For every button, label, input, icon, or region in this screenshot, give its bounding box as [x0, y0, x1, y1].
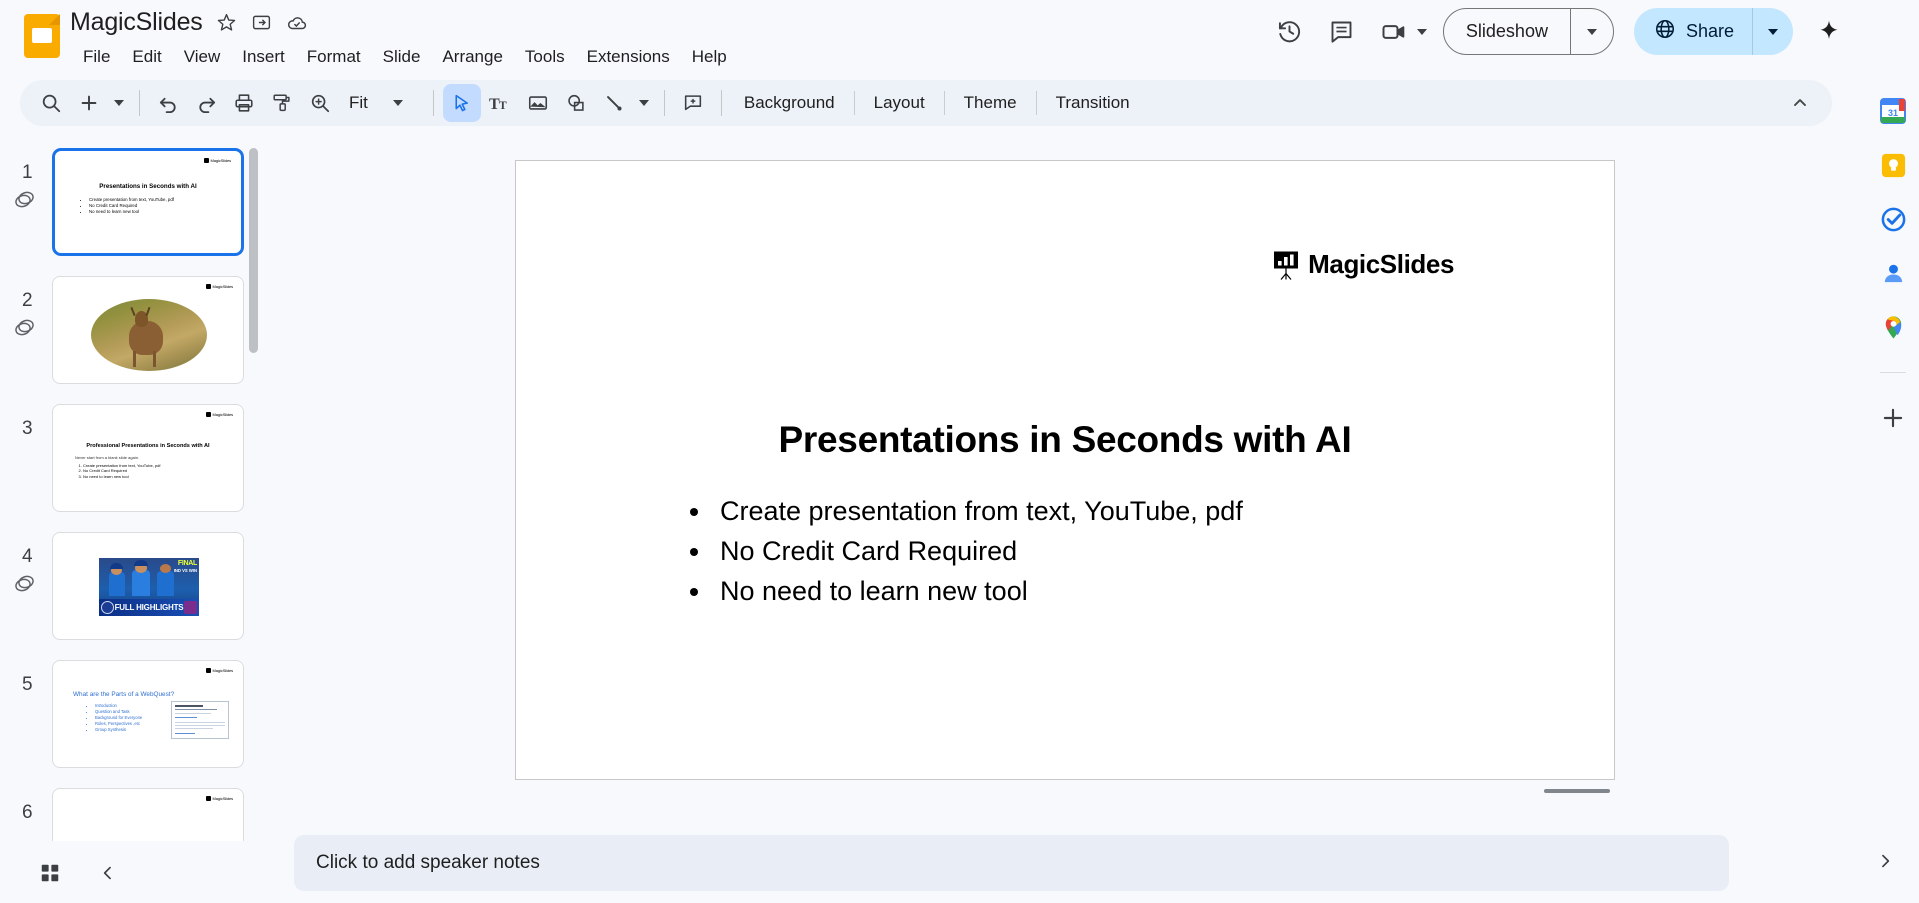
page-title[interactable]: MagicSlides: [70, 8, 203, 37]
background-button[interactable]: Background: [731, 87, 848, 119]
line-icon[interactable]: [595, 84, 633, 122]
zoom-dropdown-caret[interactable]: [372, 84, 424, 122]
slideshow-button-group: Slideshow: [1443, 8, 1614, 55]
menu-format[interactable]: Format: [296, 44, 372, 70]
paint-format-icon[interactable]: [263, 84, 301, 122]
speaker-notes-input[interactable]: Click to add speaker notes: [294, 835, 1729, 891]
undo-icon[interactable]: [149, 84, 187, 122]
list-item[interactable]: 5 MagicSlides What are the Parts of a We…: [0, 652, 268, 780]
layers-icon: [12, 316, 40, 342]
menu-edit[interactable]: Edit: [121, 44, 172, 70]
search-icon[interactable]: [32, 84, 70, 122]
menu-arrange[interactable]: Arrange: [431, 44, 513, 70]
mini-logo: MagicSlides: [206, 668, 233, 673]
mini-logo: MagicSlides: [204, 158, 231, 163]
shape-icon[interactable]: [557, 84, 595, 122]
list-item[interactable]: 1 MagicSlides Presentations in Seconds w…: [0, 140, 268, 268]
cloud-saved-icon[interactable]: [286, 12, 308, 34]
video-camera-icon[interactable]: [1371, 9, 1417, 55]
slides-app-icon[interactable]: [24, 14, 60, 58]
add-slide-dropdown-caret[interactable]: [108, 84, 130, 122]
toolbar-divider-6: [944, 91, 945, 115]
document-title-row: MagicSlides: [70, 8, 308, 37]
transition-button[interactable]: Transition: [1043, 87, 1143, 119]
mini-title: What are the Parts of a WebQuest?: [73, 691, 174, 698]
list-item[interactable]: 2 MagicSlides: [0, 268, 268, 396]
theme-button[interactable]: Theme: [951, 87, 1030, 119]
menu-insert[interactable]: Insert: [231, 44, 296, 70]
svg-text:T: T: [499, 100, 507, 112]
magicslides-easel-icon: MagicSlides: [1272, 249, 1454, 280]
version-history-icon[interactable]: [1267, 9, 1313, 55]
rail-divider: [1880, 372, 1906, 373]
toolbar-divider-4: [721, 90, 722, 116]
mini-subtitle: Never start from a blank slide again.: [75, 455, 139, 460]
layout-button[interactable]: Layout: [861, 87, 938, 119]
layers-icon: [12, 188, 40, 214]
share-dropdown-caret[interactable]: [1753, 8, 1793, 55]
toolbar-divider-3: [664, 90, 665, 116]
share-button[interactable]: Share: [1634, 8, 1752, 55]
slide-body-bullets[interactable]: Create presentation from text, YouTube, …: [676, 491, 1243, 611]
layers-icon: [12, 572, 40, 598]
google-calendar-icon[interactable]: 31: [1878, 96, 1908, 126]
meet-dropdown-caret[interactable]: [1417, 29, 1427, 35]
list-item[interactable]: 4 FINAL IND VS WIN FULL HIGHLI: [0, 524, 268, 652]
menu-file[interactable]: File: [72, 44, 121, 70]
bottom-bar: Click to add speaker notes: [0, 841, 1919, 903]
meet-group: [1371, 9, 1427, 55]
current-slide[interactable]: MagicSlides Presentations in Seconds wit…: [515, 160, 1615, 780]
avatar[interactable]: [1865, 12, 1905, 52]
google-keep-icon[interactable]: [1878, 150, 1908, 180]
add-slide-icon[interactable]: [70, 84, 108, 122]
slide-number: 5: [22, 674, 33, 696]
comment-icon[interactable]: [1319, 9, 1365, 55]
list-item[interactable]: 6 MagicSlides: [0, 780, 268, 841]
share-label: Share: [1686, 21, 1734, 42]
mini-title: Presentations in Seconds with AI: [55, 183, 241, 190]
slide-thumbnail-3[interactable]: MagicSlides Professional Presentations i…: [52, 404, 244, 512]
toolbar-divider-5: [854, 91, 855, 115]
chevron-left-icon[interactable]: [88, 853, 128, 893]
zoom-icon[interactable]: [301, 84, 339, 122]
svg-text:31: 31: [1888, 108, 1898, 118]
toolbar-divider-2: [433, 90, 434, 116]
toolbar-divider-7: [1036, 91, 1037, 115]
slide-thumbnail-6[interactable]: MagicSlides: [52, 788, 244, 841]
mini-logo: MagicSlides: [206, 284, 233, 289]
mini-title: Professional Presentations in Seconds wi…: [53, 443, 243, 449]
side-panel-rail: 31: [1867, 72, 1919, 903]
mini-logo: MagicSlides: [206, 796, 233, 801]
menu-bar: File Edit View Insert Format Slide Arran…: [72, 44, 738, 70]
slide-number: 2: [22, 290, 33, 312]
slide-bullet: No Credit Card Required: [676, 531, 1243, 571]
slide-thumbnail-4[interactable]: FINAL IND VS WIN FULL HIGHLIGHTS: [52, 532, 244, 640]
redo-icon[interactable]: [187, 84, 225, 122]
slide-bullet: No need to learn new tool: [676, 571, 1243, 611]
zoom-level-label[interactable]: Fit: [339, 93, 372, 113]
gemini-sparkle-icon[interactable]: [1807, 10, 1851, 54]
slide-number: 1: [22, 162, 33, 184]
google-tasks-icon[interactable]: [1878, 204, 1908, 234]
add-comment-icon[interactable]: [674, 84, 712, 122]
notes-resize-handle[interactable]: [1544, 789, 1610, 793]
embedded-doc-preview: [171, 701, 229, 739]
print-icon[interactable]: [225, 84, 263, 122]
menu-tools[interactable]: Tools: [514, 44, 576, 70]
google-contacts-icon[interactable]: [1878, 258, 1908, 288]
slide-number: 6: [22, 802, 33, 824]
cricket-video-thumbnail: FINAL IND VS WIN FULL HIGHLIGHTS: [99, 558, 199, 616]
slideshow-dropdown-caret[interactable]: [1571, 9, 1613, 54]
menu-extensions[interactable]: Extensions: [576, 44, 681, 70]
globe-icon: [1654, 18, 1676, 45]
menu-help[interactable]: Help: [681, 44, 738, 70]
mini-logo: MagicSlides: [206, 412, 233, 417]
deer-image: [91, 299, 207, 371]
menu-view[interactable]: View: [173, 44, 232, 70]
slide-title[interactable]: Presentations in Seconds with AI: [516, 419, 1614, 461]
add-addon-icon[interactable]: [1878, 403, 1908, 433]
list-item[interactable]: 3 MagicSlides Professional Presentations…: [0, 396, 268, 524]
slide-filmstrip[interactable]: 1 MagicSlides Presentations in Seconds w…: [0, 140, 268, 841]
menu-slide[interactable]: Slide: [372, 44, 432, 70]
mini-bullets: Create presentation from text, YouTube, …: [81, 197, 174, 216]
google-maps-icon[interactable]: [1878, 312, 1908, 342]
share-button-group: Share: [1634, 8, 1793, 55]
line-dropdown-caret[interactable]: [633, 84, 655, 122]
move-to-folder-icon[interactable]: [251, 12, 273, 34]
text-box-icon[interactable]: T T: [481, 84, 519, 122]
scrollbar-thumb[interactable]: [249, 148, 258, 353]
mini-bullets: Create presentation from text, YouTube, …: [75, 463, 160, 479]
slide-bullet: Create presentation from text, YouTube, …: [676, 491, 1243, 531]
slide-thumbnail-1[interactable]: MagicSlides Presentations in Seconds wit…: [52, 148, 244, 256]
slide-thumbnail-5[interactable]: MagicSlides What are the Parts of a WebQ…: [52, 660, 244, 768]
slide-canvas-area: MagicSlides Presentations in Seconds wit…: [268, 140, 1867, 841]
chevron-up-icon[interactable]: [1780, 83, 1820, 123]
grid-view-icon[interactable]: [30, 853, 70, 893]
mini-bullets: Introduction Question and Task Backgroun…: [87, 703, 142, 733]
slide-logo-text: MagicSlides: [1308, 249, 1454, 280]
toolbar-divider-1: [139, 90, 140, 116]
speaker-notes-placeholder: Click to add speaker notes: [316, 852, 540, 874]
chevron-right-icon[interactable]: [1865, 841, 1905, 881]
select-cursor-icon[interactable]: [443, 84, 481, 122]
slide-number: 4: [22, 546, 33, 568]
slideshow-button[interactable]: Slideshow: [1444, 9, 1570, 54]
top-right-actions: Slideshow Share: [1267, 8, 1905, 55]
insert-image-icon[interactable]: [519, 84, 557, 122]
toolbar: Fit T T Background: [20, 80, 1832, 126]
top-bar: MagicSlides File Edit View Insert Format…: [0, 0, 1919, 72]
slide-number: 3: [22, 418, 33, 440]
star-icon[interactable]: [216, 12, 238, 34]
filmstrip-scrollbar[interactable]: [249, 148, 258, 831]
slide-thumbnail-2[interactable]: MagicSlides: [52, 276, 244, 384]
